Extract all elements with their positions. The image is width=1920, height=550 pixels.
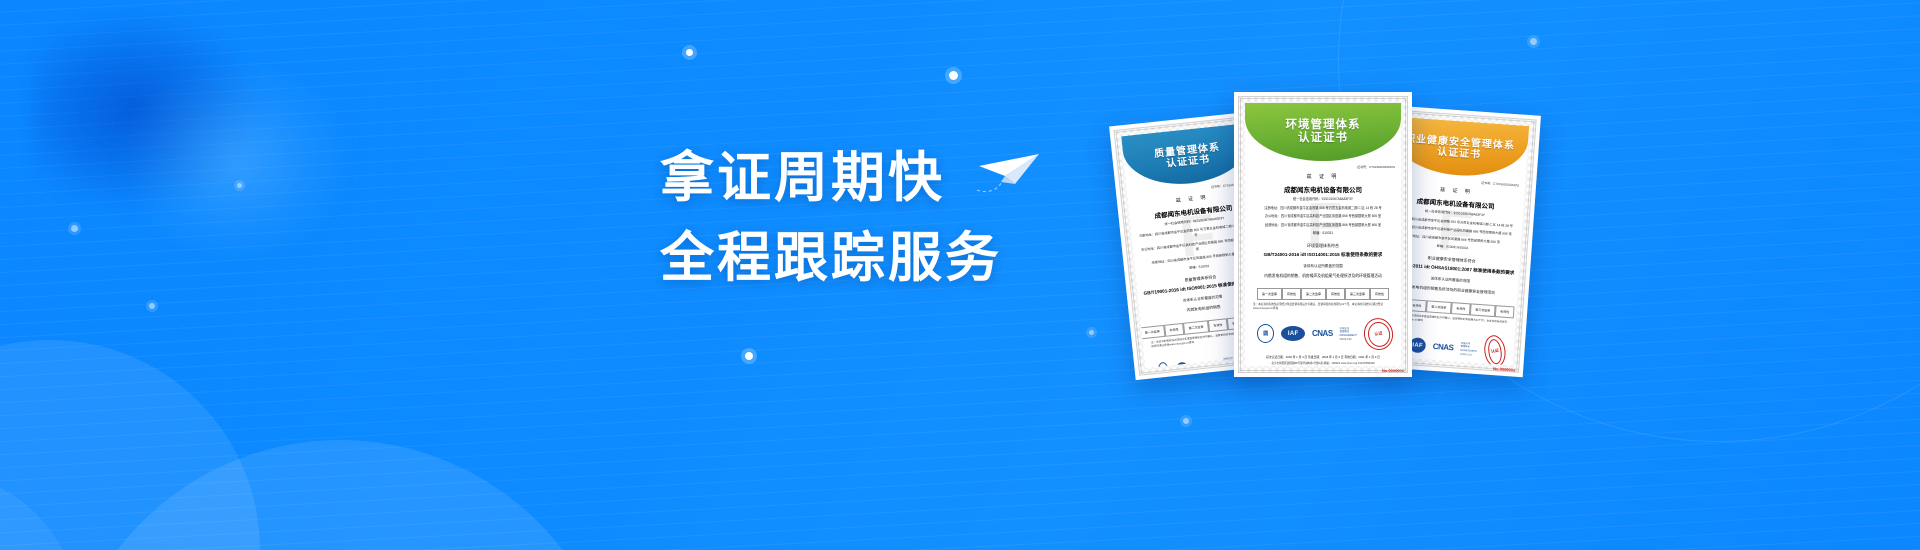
iaf-logo-icon: IAF <box>1281 326 1305 341</box>
hero-banner: 拿证周期快 全程跟踪服务 质量管理体系 认证证书 F 证书号：CT0196200… <box>0 0 1920 550</box>
certificate-issuer-address: 北京市朝阳区建国路88号现代城B座1号楼1座 邮编：100022 www.hmr… <box>1245 361 1401 365</box>
certificate-attest-label: 兹 证 明 <box>1245 173 1401 180</box>
cnas-logo-icon: CNAS <box>1312 329 1333 338</box>
audit-cell: 第三次监审 <box>1470 303 1496 317</box>
sparkle-dot-5 <box>71 225 78 232</box>
certificate-title-line2: 认证证书 <box>1437 147 1482 161</box>
audit-cell: 有效性 <box>1282 288 1301 300</box>
sparkle-dot-4 <box>237 183 242 188</box>
certificate-title-line2: 认证证书 <box>1298 132 1348 145</box>
certificate-body: 环境管理体系 认证证书 F 证书号：CT01962002ZMOS 兹 证 明 成… <box>1245 103 1401 366</box>
sparkle-dot-2 <box>949 71 958 80</box>
certificate-environment[interactable]: 环境管理体系 认证证书 F 证书号：CT01962002ZMOS 兹 证 明 成… <box>1234 92 1412 377</box>
headline-line-2: 全程跟踪服务 <box>660 218 1080 298</box>
cnas-logo-icon: CNAS <box>1432 342 1453 352</box>
sparkle-dot-1 <box>686 49 693 56</box>
audit-cell: 有效性 <box>1208 318 1228 332</box>
audit-cell: 第一次监审 <box>1257 288 1282 300</box>
certificate-title-line1: 环境管理体系 <box>1286 119 1361 132</box>
certificate-serial: No.0000001 <box>1382 368 1404 373</box>
certificate-audit-grid: 第一次监审 有效性 第二次监审 有效性 第三次监审 有效性 <box>1245 288 1401 300</box>
accreditation-text: 中国认可管理体系MANAGEMENTCNAS C1V <box>1460 342 1478 358</box>
certificate-serial: No.0000001 <box>1493 366 1515 373</box>
audit-cell: 第三次监审 <box>1345 288 1370 300</box>
certificates-group: 质量管理体系 认证证书 F 证书号：CT01962001ZMOS 兹 证 明 成… <box>1120 0 1920 550</box>
certificate-watermark: F <box>1435 197 1472 266</box>
certificate-watermark: F <box>1307 190 1339 257</box>
certificate-logos: 圆 IAF CNAS 中国认可管理体系MANAGEMENTCNAS C1V 认证 <box>1257 318 1401 350</box>
audit-cell: 有效性 <box>1370 288 1389 300</box>
light-glow-blob <box>120 60 350 260</box>
audit-cell: 有效性 <box>1164 323 1184 337</box>
sparkle-dot-6 <box>149 303 155 309</box>
audit-cell: 第二次监审 <box>1301 288 1326 300</box>
audit-cell: 第二次监审 <box>1426 300 1452 314</box>
cn-mark-icon: 圆 <box>1257 324 1274 343</box>
sparkle-dot-7 <box>745 352 753 360</box>
certificate-dates: 初次认证日期：2018 年 1 月 4 日 签发日期：2018 年 1 月 4 … <box>1245 355 1401 359</box>
official-seal-icon: 认证 <box>1361 315 1396 352</box>
certificate-scope-label: 该体系认证所覆盖的范围 <box>1245 264 1401 269</box>
sparkle-dot-8 <box>1089 330 1094 335</box>
certificate-scope: 内燃发电机组的销售、机房噪声及机组尾气处理所涉及的环境管理活动 <box>1245 274 1401 280</box>
certificate-fine-print: 注：本证书的有效性必须经过年度监督审核后方可确认，监督审核的有效期为12个月，本… <box>1253 303 1393 311</box>
accreditation-text: 中国认可管理体系MANAGEMENTCNAS C1V <box>1340 327 1357 341</box>
paper-plane-icon <box>975 150 1045 202</box>
certificate-number: 证书号：CT01962002ZMOS <box>1245 165 1395 169</box>
audit-cell: 有效性 <box>1326 288 1345 300</box>
audit-cell: 第二次监审 <box>1183 320 1209 335</box>
audit-cell: 第一次监审 <box>1139 325 1165 340</box>
audit-cell: 有效性 <box>1451 302 1471 315</box>
official-seal-icon: 认证 <box>1482 334 1507 366</box>
certificate-header: 环境管理体系 认证证书 <box>1245 103 1401 161</box>
audit-cell: 有效性 <box>1495 305 1515 318</box>
certificate-watermark: F <box>1176 201 1215 271</box>
